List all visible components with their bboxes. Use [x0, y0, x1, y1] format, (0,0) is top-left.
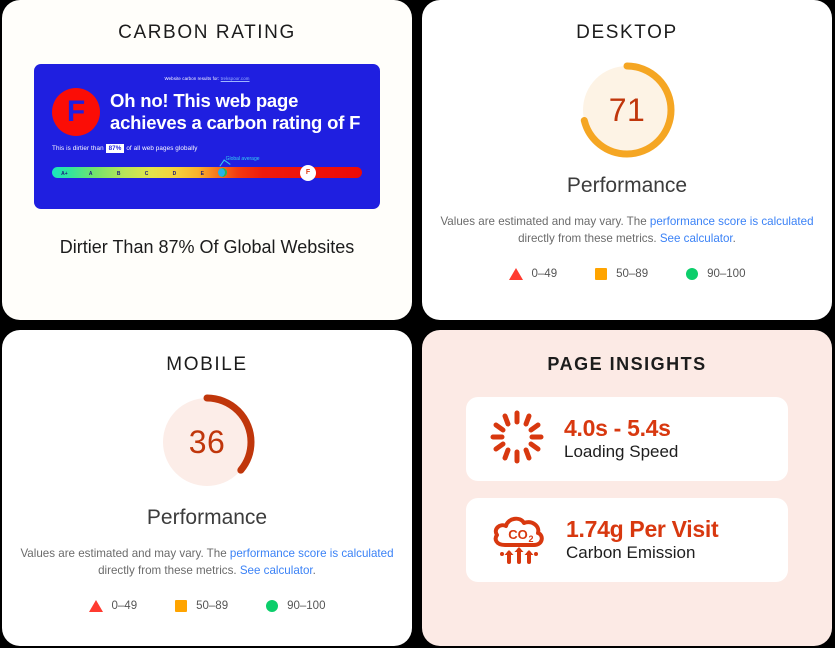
- mobile-metric-label: Performance: [14, 506, 400, 530]
- mobile-note-part1: Values are estimated and may vary. The: [20, 547, 229, 560]
- carbon-rating-title: CARBON RATING: [16, 22, 398, 44]
- carbon-source-line: Website carbon results for: trekspoor.co…: [48, 76, 366, 81]
- desktop-note-part2: directly from these metrics.: [518, 232, 660, 245]
- insight-value-carbon-emission: 1.74g Per Visit: [566, 516, 718, 542]
- legend-range-good: 90–100: [707, 268, 745, 280]
- legend-item-average: 50–89: [595, 268, 648, 280]
- carbon-subtext-prefix: This is dirtier than: [52, 145, 104, 152]
- carbon-rating-card: CARBON RATING Website carbon results for…: [2, 0, 412, 320]
- desktop-metric-label: Performance: [434, 174, 820, 198]
- mobile-performance-card: MOBILE 36 Performance Values are estimat…: [2, 330, 412, 646]
- svg-text:CO: CO: [508, 527, 528, 542]
- mobile-note-part3: .: [313, 564, 316, 577]
- carbon-percent-badge: 87%: [106, 144, 125, 153]
- mobile-score-value: 36: [155, 390, 259, 494]
- mobile-note-link-performance-score[interactable]: performance score is calculated: [230, 547, 394, 560]
- carbon-headline: Oh no! This web page achieves a carbon r…: [110, 90, 366, 133]
- insight-card-carbon-emission: CO 2: [466, 498, 788, 582]
- desktop-note-part3: .: [733, 232, 736, 245]
- globe-icon: [218, 168, 227, 177]
- desktop-note: Values are estimated and may vary. The p…: [440, 214, 814, 248]
- legend-range-poor: 0–49: [532, 268, 558, 280]
- insight-label-carbon-emission: Carbon Emission: [566, 542, 718, 564]
- insight-card-loading-speed: 4.0s - 5.4s Loading Speed: [466, 397, 788, 481]
- mobile-performance-gauge: 36: [155, 390, 259, 494]
- mobile-legend: 0–49 50–89 90–100: [14, 600, 400, 612]
- desktop-note-link-see-calculator[interactable]: See calculator: [660, 232, 733, 245]
- desktop-title: DESKTOP: [434, 22, 820, 44]
- insight-text-loading-speed: 4.0s - 5.4s Loading Speed: [564, 415, 678, 464]
- carbon-rating-caption: Dirtier Than 87% Of Global Websites: [16, 237, 398, 258]
- carbon-source-prefix: Website carbon results for:: [164, 76, 219, 81]
- global-average-label: Global average: [226, 156, 260, 162]
- carbon-main-row: F Oh no! This web page achieves a carbon…: [48, 88, 366, 136]
- carbon-source-link[interactable]: trekspoor.com: [221, 76, 250, 81]
- insight-value-loading-speed: 4.0s - 5.4s: [564, 415, 678, 441]
- desktop-note-part1: Values are estimated and may vary. The: [440, 215, 649, 228]
- legend-range-good: 90–100: [287, 600, 325, 612]
- legend-range-average: 50–89: [196, 600, 228, 612]
- page-insights-card: PAGE INSIGHTS: [422, 330, 832, 646]
- scale-label-b: B: [105, 171, 133, 177]
- legend-range-poor: 0–49: [112, 600, 138, 612]
- carbon-grade-badge: F: [52, 88, 100, 136]
- legend-item-good: 90–100: [266, 600, 325, 612]
- carbon-scale: A+ A B C D E Global average F: [52, 156, 362, 180]
- mobile-note: Values are estimated and may vary. The p…: [20, 546, 394, 580]
- circle-icon: [686, 268, 698, 280]
- legend-item-average: 50–89: [175, 600, 228, 612]
- scale-label-e: E: [188, 171, 216, 177]
- insight-label-loading-speed: Loading Speed: [564, 441, 678, 463]
- page-insights-title: PAGE INSIGHTS: [434, 354, 820, 375]
- desktop-legend: 0–49 50–89 90–100: [434, 268, 820, 280]
- dashboard-grid: CARBON RATING Website carbon results for…: [0, 0, 835, 648]
- scale-label-c: C: [133, 171, 161, 177]
- legend-item-poor: 0–49: [509, 268, 558, 280]
- legend-item-poor: 0–49: [89, 600, 138, 612]
- insight-list: 4.0s - 5.4s Loading Speed CO 2: [434, 397, 820, 582]
- website-carbon-embed: Website carbon results for: trekspoor.co…: [34, 64, 380, 209]
- triangle-icon: [509, 268, 523, 280]
- co2-cloud-icon: CO 2: [488, 509, 548, 572]
- mobile-title: MOBILE: [14, 354, 400, 376]
- mobile-note-part2: directly from these metrics.: [98, 564, 240, 577]
- svg-text:2: 2: [528, 534, 533, 544]
- scale-label-a: A: [77, 171, 105, 177]
- desktop-gauge-wrap: 71: [434, 58, 820, 162]
- desktop-performance-card: DESKTOP 71 Performance Values are estima…: [422, 0, 832, 320]
- scale-label-a-plus: A+: [52, 171, 77, 177]
- desktop-performance-gauge: 71: [575, 58, 679, 162]
- circle-icon: [266, 600, 278, 612]
- legend-range-average: 50–89: [616, 268, 648, 280]
- carbon-scale-marker: F: [300, 165, 316, 181]
- desktop-note-link-performance-score[interactable]: performance score is calculated: [650, 215, 814, 228]
- spinner-icon: [488, 408, 546, 471]
- square-icon: [595, 268, 607, 280]
- mobile-note-link-see-calculator[interactable]: See calculator: [240, 564, 313, 577]
- square-icon: [175, 600, 187, 612]
- triangle-icon: [89, 600, 103, 612]
- legend-item-good: 90–100: [686, 268, 745, 280]
- scale-label-d: D: [160, 171, 188, 177]
- carbon-subtext: This is dirtier than 87% of all web page…: [52, 145, 366, 152]
- mobile-gauge-wrap: 36: [14, 390, 400, 494]
- insight-text-carbon-emission: 1.74g Per Visit Carbon Emission: [566, 516, 718, 565]
- desktop-score-value: 71: [575, 58, 679, 162]
- carbon-subtext-suffix: of all web pages globally: [126, 145, 197, 152]
